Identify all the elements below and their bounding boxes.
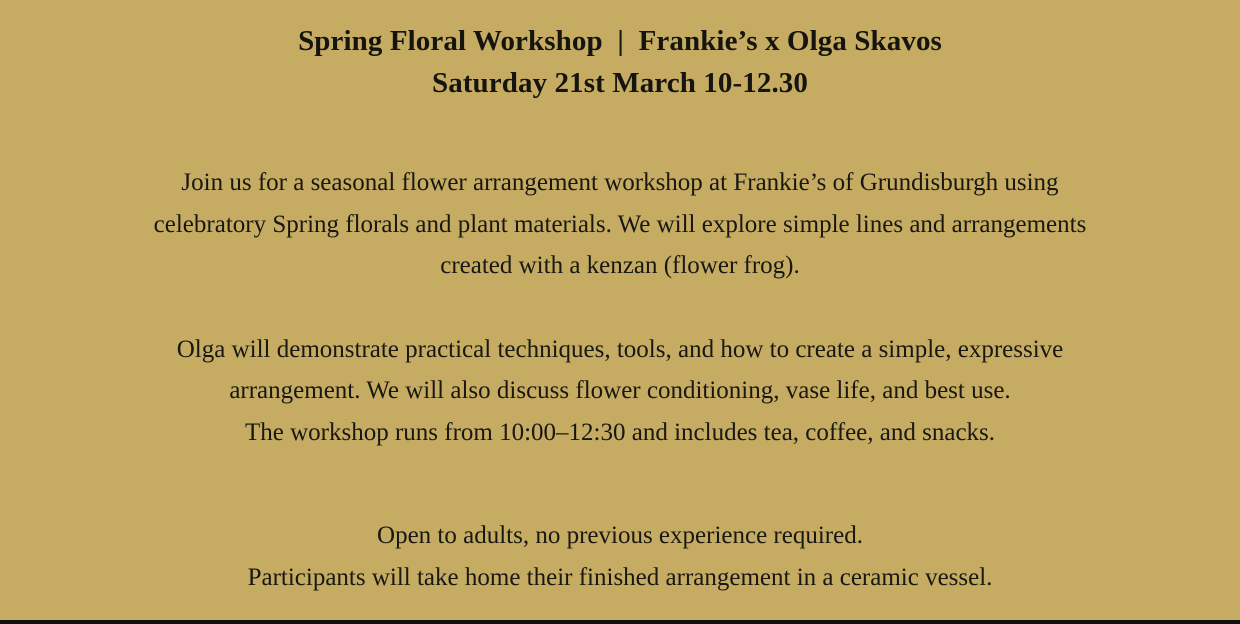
poster-title: Spring Floral Workshop | Frankie’s x Olg… [70, 20, 1170, 62]
poster-heading: Spring Floral Workshop | Frankie’s x Olg… [70, 20, 1170, 104]
poster-subtitle-date: Saturday 21st March 10-12.30 [70, 62, 1170, 104]
intro-paragraph-line: celebratory Spring florals and plant mat… [100, 204, 1140, 246]
details-paragraph: Olga will demonstrate practical techniqu… [100, 329, 1140, 454]
details-paragraph-line: The workshop runs from 10:00–12:30 and i… [100, 412, 1140, 454]
intro-paragraph-line: created with a kenzan (flower frog). [100, 245, 1140, 287]
eligibility-paragraph-line: Participants will take home their finish… [100, 557, 1140, 599]
bottom-divider-rule [0, 620, 1240, 624]
eligibility-paragraph-line: Open to adults, no previous experience r… [100, 515, 1140, 557]
intro-paragraph: Join us for a seasonal flower arrangemen… [100, 162, 1140, 287]
details-paragraph-line: arrangement. We will also discuss flower… [100, 370, 1140, 412]
intro-paragraph-line: Join us for a seasonal flower arrangemen… [100, 162, 1140, 204]
eligibility-paragraph: Open to adults, no previous experience r… [100, 515, 1140, 598]
details-paragraph-line: Olga will demonstrate practical techniqu… [100, 329, 1140, 371]
workshop-poster: Spring Floral Workshop | Frankie’s x Olg… [0, 0, 1240, 624]
